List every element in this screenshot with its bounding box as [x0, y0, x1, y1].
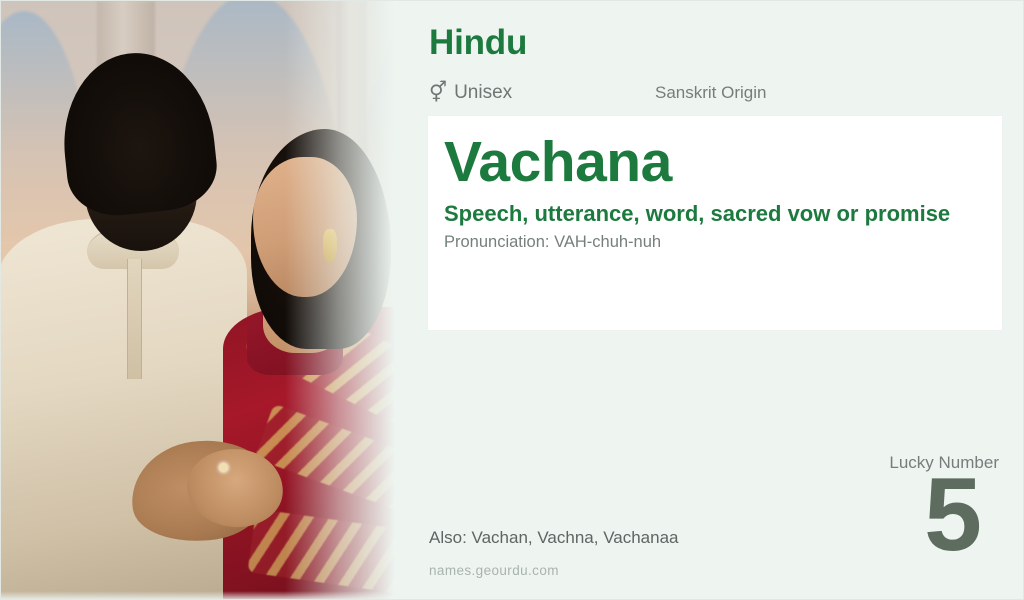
- wedding-ring: [219, 463, 228, 472]
- name-detail-card: Vachana Speech, utterance, word, sacred …: [427, 115, 1003, 331]
- man-placket: [127, 259, 142, 379]
- name-pronunciation: Pronunciation: VAH-chuh-nuh: [444, 233, 986, 252]
- couple-photo: [1, 1, 405, 600]
- meta-row: ⚥ Unisex Sanskrit Origin: [429, 82, 989, 108]
- name-meaning: Speech, utterance, word, sacred vow or p…: [444, 201, 986, 227]
- religion-title: Hindu: [429, 23, 527, 63]
- site-url: names.geourdu.com: [429, 563, 559, 578]
- gender-label: Unisex: [454, 82, 512, 104]
- lucky-number-value: 5: [903, 463, 1003, 567]
- man-kurta: [1, 219, 247, 600]
- details-panel: Hindu ⚥ Unisex Sanskrit Origin Vachana S…: [405, 1, 1024, 600]
- photo-bottom-fade: [1, 591, 405, 600]
- origin-label: Sanskrit Origin: [655, 83, 766, 103]
- photo-right-fade: [285, 1, 405, 600]
- male-female-icon: ⚥: [429, 83, 447, 103]
- alternate-names: Also: Vachan, Vachna, Vachanaa: [429, 528, 679, 548]
- name-title: Vachana: [444, 134, 986, 191]
- name-card-graphic: Hindu ⚥ Unisex Sanskrit Origin Vachana S…: [0, 0, 1024, 600]
- gender-info: ⚥ Unisex: [429, 82, 512, 104]
